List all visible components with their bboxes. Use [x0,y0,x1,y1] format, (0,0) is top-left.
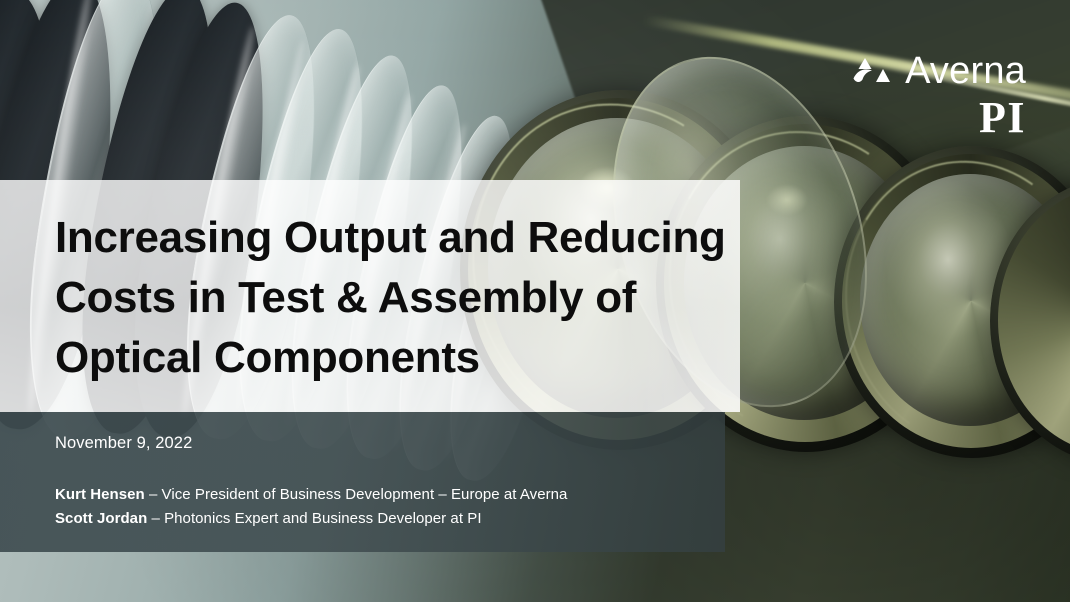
presenter-name: Scott Jordan [55,510,147,527]
presenter-row: Kurt Hensen – Vice President of Business… [55,483,567,507]
info-overlay-band [0,412,725,552]
presenter-list: Kurt Hensen – Vice President of Business… [55,483,567,531]
presenter-row: Scott Jordan – Photonics Expert and Busi… [55,507,567,531]
averna-logo: Averna [852,52,1026,90]
presenter-role: – Vice President of Business Development… [145,486,568,503]
presentation-date: November 9, 2022 [55,434,192,453]
presenter-role: – Photonics Expert and Business Develope… [147,510,481,527]
averna-wordmark: Averna [905,52,1026,90]
title-slide: Increasing Output and Reducing Costs in … [0,0,1070,602]
averna-triangle-swoosh-icon [852,56,892,86]
page-title: Increasing Output and Reducing Costs in … [55,208,735,388]
pi-logo: PI [979,96,1026,140]
presenter-name: Kurt Hensen [55,486,145,503]
